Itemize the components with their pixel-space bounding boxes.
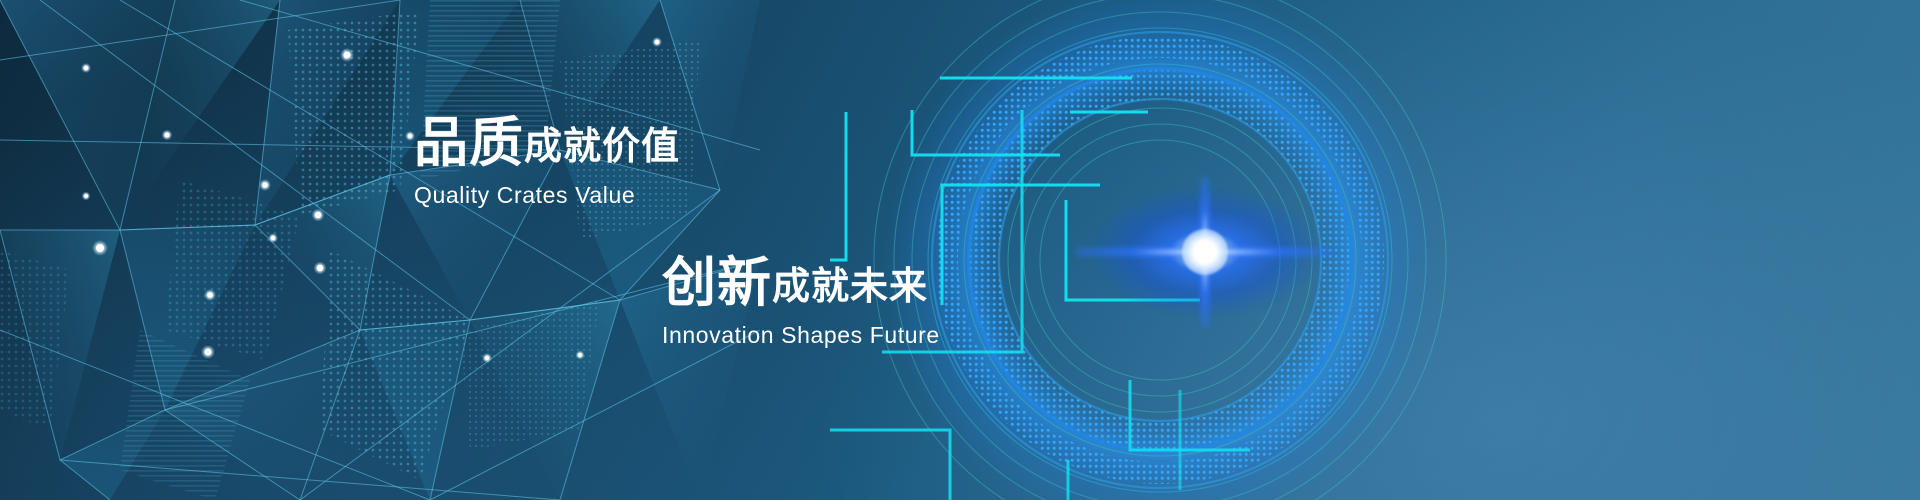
flare-core	[1182, 229, 1228, 275]
slogan-innovation-rest: 成就未来	[772, 266, 928, 308]
slogan-innovation-english: Innovation Shapes Future	[662, 322, 940, 349]
slogan-innovation-emphasis: 创新	[662, 253, 772, 313]
slogan-innovation: 创新成就未来 Innovation Shapes Future	[662, 256, 940, 349]
mesh-facets	[0, 0, 760, 500]
tech-ring-graphic	[830, 0, 1450, 500]
slogan-quality-english: Quality Crates Value	[414, 182, 680, 209]
ring-thick-circles	[932, 32, 1388, 488]
slogan-quality-chinese: 品质成就价值	[414, 116, 680, 170]
flare-vertical-ray	[1199, 177, 1211, 327]
slogan-quality-emphasis: 品质	[414, 113, 524, 173]
ring-halo	[860, 0, 1450, 500]
flare-glow	[1090, 187, 1320, 317]
hero-banner: 品质成就价值 Quality Crates Value 创新成就未来 Innov…	[0, 0, 1920, 500]
flare-horizontal-ray	[1076, 246, 1334, 258]
slogan-innovation-chinese: 创新成就未来	[662, 256, 940, 310]
ring-glow-circle	[969, 69, 1351, 451]
slogan-quality: 品质成就价值 Quality Crates Value	[414, 116, 680, 209]
ring-concentric-circles	[874, 0, 1446, 500]
ring-dot-band	[830, 0, 1450, 500]
halftone-texture	[0, 0, 700, 500]
slogan-quality-rest: 成就价值	[524, 126, 680, 168]
lens-flare-star	[1075, 172, 1335, 332]
mesh-lines	[0, 0, 760, 500]
polygon-mesh-decoration	[0, 0, 760, 500]
